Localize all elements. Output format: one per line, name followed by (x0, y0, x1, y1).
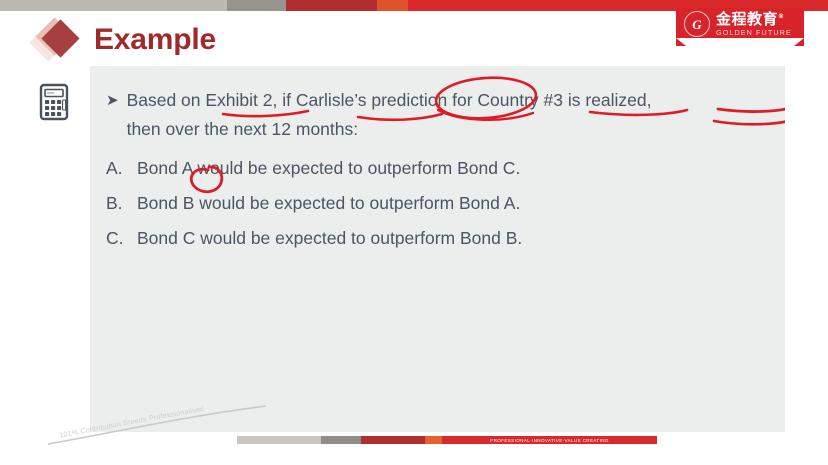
question-line-2: ➤ then over the next 12 months: (106, 115, 766, 144)
diamond-bullet-icon (34, 18, 80, 62)
option-c-text: Bond C would be expected to outperform B… (137, 221, 522, 256)
option-b-label: B. (106, 186, 128, 221)
brand-logo: G 金程教育® GOLDEN FUTURE (676, 8, 804, 46)
logo-chinese-name: 金程教育® (716, 12, 792, 27)
bottom-color-bar: PROFESSIONAL·INNOVATIVE·VALUE CREATING (237, 436, 657, 444)
arrow-bullet-icon: ➤ (106, 86, 119, 115)
question-text-2: then over the next 12 months: (127, 115, 766, 144)
option-a-label: A. (106, 151, 128, 186)
svg-text:101% Contribution Breeds Profe: 101% Contribution Breeds Professionalism… (59, 404, 205, 439)
registered-mark-icon: ® (778, 13, 785, 20)
question-block: ➤ Based on Exhibit 2, if Carlisle’s pred… (106, 86, 766, 144)
logo-english-name: GOLDEN FUTURE (716, 29, 792, 36)
bottom-bar-segment-orange (425, 436, 442, 444)
slide-canvas: Example G 金程教育® GOLDEN FUTURE (0, 0, 828, 465)
bottom-bar-segment-bright-red: PROFESSIONAL·INNOVATIVE·VALUE CREATING (442, 436, 657, 444)
slide-header: Example (34, 18, 216, 62)
option-b[interactable]: B. Bond B would be expected to outperfor… (106, 186, 746, 221)
option-a-text: Bond A would be expected to outperform B… (137, 151, 520, 186)
bottom-bar-segment-mid-gray (321, 436, 361, 444)
question-text-1: Based on Exhibit 2, if Carlisle’s predic… (127, 86, 766, 115)
answer-options: A. Bond A would be expected to outperfor… (106, 151, 746, 256)
bottom-bar-segment-light-gray (237, 436, 321, 444)
top-bar-segment-orange (377, 0, 408, 11)
option-c-label: C. (106, 221, 128, 256)
watermark-text: 101% Contribution Breeds Professionalism… (59, 404, 205, 439)
top-bar-segment-dark-red (286, 0, 377, 11)
bottom-bar-segment-dark-red (361, 436, 425, 444)
content-panel: ➤ Based on Exhibit 2, if Carlisle’s pred… (90, 66, 785, 432)
calculator-icon (34, 82, 74, 122)
footer-tagline: PROFESSIONAL·INNOVATIVE·VALUE CREATING (442, 436, 657, 444)
option-b-text: Bond B would be expected to outperform B… (137, 186, 520, 221)
option-c[interactable]: C. Bond C would be expected to outperfor… (106, 221, 746, 256)
logo-seal-letter: G (692, 18, 701, 31)
question-line-1: ➤ Based on Exhibit 2, if Carlisle’s pred… (106, 86, 766, 115)
page-title: Example (94, 25, 216, 55)
option-a[interactable]: A. Bond A would be expected to outperfor… (106, 151, 746, 186)
top-bar-segment-mid-gray (227, 0, 286, 11)
logo-seal-icon: G (684, 11, 710, 37)
top-bar-segment-light-gray (0, 0, 227, 11)
